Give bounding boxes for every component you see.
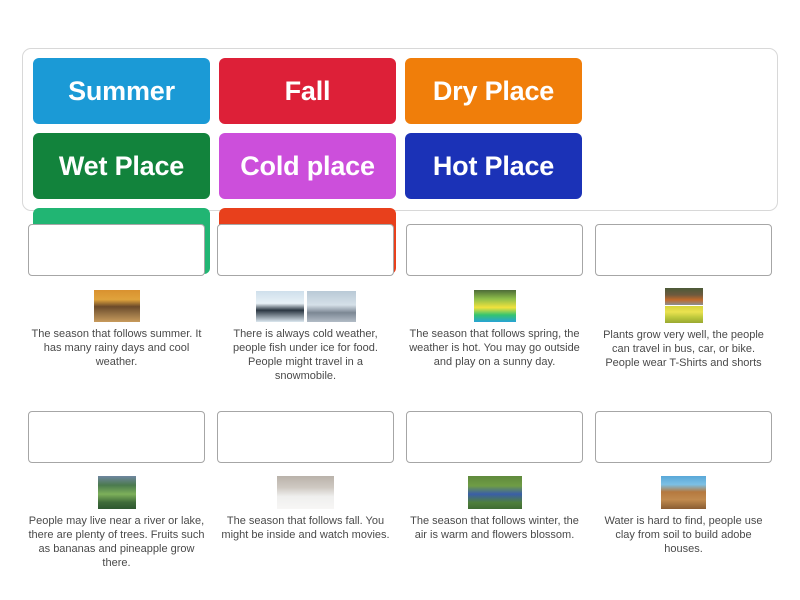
snowy-winter-path-thumbnail (277, 476, 334, 509)
snowmobile-on-ice-thumbnail (256, 291, 304, 322)
card-caption: The season that follows winter, the air … (406, 514, 583, 542)
drop-zone[interactable] (406, 411, 583, 463)
card-caption: Plants grow very well, the people can tr… (595, 328, 772, 370)
card-caption: The season that follows summer. It has m… (28, 327, 205, 369)
card-thumbnails (665, 288, 703, 323)
card-thumbnails (256, 288, 356, 322)
children-playing-on-grass-thumbnail (468, 476, 522, 509)
card-thumbnails (98, 475, 136, 509)
tile-summer[interactable]: Summer (33, 58, 210, 124)
autumn-trees-reflected-in-water-thumbnail (94, 290, 140, 322)
tile-dry-place[interactable]: Dry Place (405, 58, 582, 124)
answer-card: The season that follows fall. You might … (211, 411, 400, 570)
card-thumbnails (94, 288, 140, 322)
card-thumbnails (474, 288, 516, 322)
tile-hot-place[interactable]: Hot Place (405, 133, 582, 199)
card-thumbnails (661, 475, 706, 509)
card-caption: The season that follows spring, the weat… (406, 327, 583, 369)
drop-zone[interactable] (217, 411, 394, 463)
bicycles-and-cars-on-street-thumbnail (665, 288, 703, 305)
card-caption: People may live near a river or lake, th… (28, 514, 205, 570)
drop-zone[interactable] (28, 411, 205, 463)
matchup-activity-page: SummerFallDry PlaceWet PlaceCold placeHo… (0, 0, 800, 600)
tile-cold-place[interactable]: Cold place (219, 133, 396, 199)
answer-card: The season that follows winter, the air … (400, 411, 589, 570)
drop-zone[interactable] (217, 224, 394, 276)
drop-zone[interactable] (28, 224, 205, 276)
answer-card: The season that follows spring, the weat… (400, 224, 589, 383)
answer-card: Plants grow very well, the people can tr… (589, 224, 778, 383)
drop-zone[interactable] (595, 224, 772, 276)
card-thumbnails (277, 475, 334, 509)
adobe-houses-under-blue-sky-thumbnail (661, 476, 706, 509)
tile-fall[interactable]: Fall (219, 58, 396, 124)
yellow-flowers-in-bloom-thumbnail (665, 306, 703, 323)
answer-card: People may live near a river or lake, th… (22, 411, 211, 570)
drop-zone[interactable] (406, 224, 583, 276)
tile-wet-place[interactable]: Wet Place (33, 133, 210, 199)
children-on-water-slide-thumbnail (474, 290, 516, 322)
people-walking-on-snow-thumbnail (307, 291, 356, 322)
drop-zone[interactable] (595, 411, 772, 463)
green-valley-with-river-thumbnail (98, 476, 136, 509)
answer-card: The season that follows summer. It has m… (22, 224, 211, 383)
answer-card: There is always cold weather, people fis… (211, 224, 400, 383)
draggable-tile-bank: SummerFallDry PlaceWet PlaceCold placeHo… (22, 48, 778, 211)
card-caption: The season that follows fall. You might … (217, 514, 394, 542)
card-caption: Water is hard to find, people use clay f… (595, 514, 772, 556)
card-thumbnails (468, 475, 522, 509)
answer-card-grid: The season that follows summer. It has m… (22, 224, 778, 570)
answer-card: Water is hard to find, people use clay f… (589, 411, 778, 570)
card-caption: There is always cold weather, people fis… (217, 327, 394, 383)
